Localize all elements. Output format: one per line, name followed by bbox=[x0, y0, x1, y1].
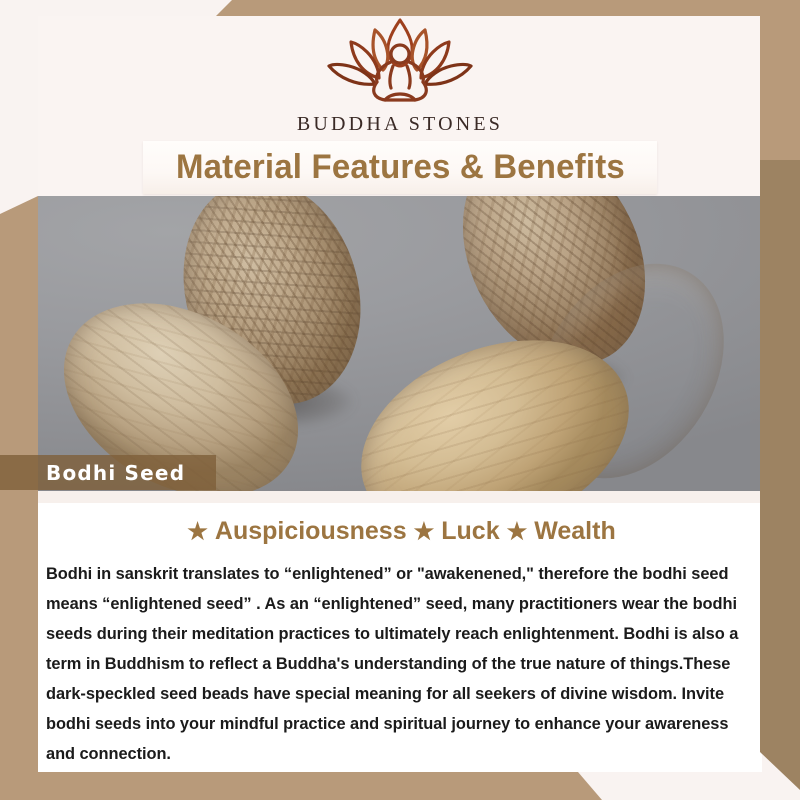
page-title: Material Features & Benefits bbox=[176, 148, 625, 187]
star-icon: ★ bbox=[187, 518, 208, 544]
benefit-auspiciousness: Auspiciousness bbox=[215, 517, 407, 545]
hero-caption-label: Bodhi Seed bbox=[46, 461, 185, 485]
benefit-wealth: Wealth bbox=[534, 517, 616, 545]
infographic-page: BUDDHA STONES Material Features & Benefi… bbox=[0, 0, 800, 800]
benefit-luck: Luck bbox=[441, 517, 499, 545]
hero-caption-bar: Bodhi Seed bbox=[0, 455, 216, 490]
frame-bottom-band bbox=[0, 772, 800, 800]
benefits-headline: ★Auspiciousness★Luck★Wealth bbox=[38, 517, 762, 546]
hero-image bbox=[38, 196, 762, 491]
card-top-accent bbox=[38, 491, 762, 503]
brand-wordmark: BUDDHA STONES bbox=[0, 113, 800, 136]
description-card: ★Auspiciousness★Luck★Wealth Bodhi in san… bbox=[38, 491, 762, 772]
star-icon: ★ bbox=[414, 518, 435, 544]
frame-left-band bbox=[0, 196, 38, 800]
lotus-meditation-figure-icon bbox=[0, 14, 800, 111]
brand-logo: BUDDHA STONES bbox=[0, 14, 800, 136]
star-icon: ★ bbox=[507, 518, 528, 544]
description-paragraph: Bodhi in sanskrit translates to “enlight… bbox=[46, 559, 754, 769]
title-banner: Material Features & Benefits bbox=[143, 141, 657, 194]
